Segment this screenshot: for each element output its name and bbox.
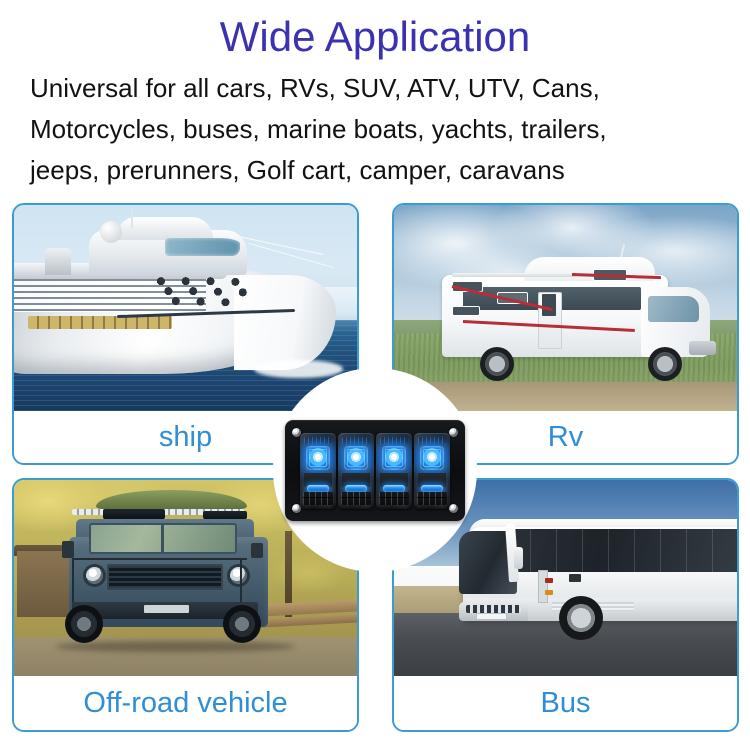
bus-license-plate (476, 613, 507, 620)
bull-bar-top (72, 558, 247, 560)
bus-amber-marker-light (545, 590, 553, 595)
subtitle-line-1: Universal for all cars, RVs, SUV, ATV, U… (30, 68, 720, 109)
rocker-switch-2[interactable] (338, 433, 374, 509)
blue-led-bar-4 (421, 485, 443, 492)
ship-scene (14, 205, 357, 411)
blue-led-bar-1 (307, 485, 329, 492)
roof-light-bar-right (203, 511, 248, 519)
bus-side-vent (569, 574, 581, 582)
roof-light-bar-left (103, 509, 165, 519)
card-caption-offroad: Off-road vehicle (14, 676, 357, 730)
rv-door-window (542, 294, 556, 317)
bus-red-marker-light (545, 578, 553, 583)
bus-service-door (538, 570, 548, 603)
headlight-left (83, 564, 106, 587)
blue-led-indicator-2 (344, 446, 368, 470)
rv-front-bumper (689, 341, 716, 355)
mounting-screw-bottom-right (449, 504, 458, 513)
bus-side-windows (504, 529, 737, 572)
blue-led-bar-2 (345, 485, 367, 492)
rv-rear-wheel (480, 347, 514, 381)
rocker-switch-1[interactable] (300, 433, 336, 509)
ship-cabin-windows (151, 275, 274, 306)
wide-application-infographic: Wide Application Universal for all cars,… (0, 0, 750, 750)
rocker-switch-3[interactable] (376, 433, 412, 509)
rocker-switch-4[interactable] (414, 433, 450, 509)
bus-side-mirror (514, 547, 523, 569)
rv-scene (394, 205, 737, 411)
blue-led-bar-3 (383, 485, 405, 492)
card-caption-bus: Bus (394, 676, 737, 730)
subtitle-text: Universal for all cars, RVs, SUV, ATV, U… (30, 68, 720, 191)
mounting-screw-top-right (449, 428, 458, 437)
ship-funnel (45, 248, 71, 275)
cruise-ship-photo (14, 205, 357, 411)
ship-lifeboats (28, 316, 172, 328)
headlight-right (227, 564, 250, 587)
rocker-bottom-ribs-2 (341, 492, 371, 505)
rocker-bottom-ribs-1 (303, 492, 333, 505)
blue-led-indicator-4 (420, 446, 444, 470)
bus-front-wheel (559, 596, 603, 640)
wooden-shed (17, 551, 75, 618)
motorhome-rv-photo (394, 205, 737, 411)
ship-mast (131, 209, 133, 228)
blue-led-indicator-1 (306, 446, 330, 470)
rv-awning (452, 273, 575, 277)
offroad-license-plate (144, 605, 189, 613)
rocker-top-ribs-3 (380, 437, 408, 444)
rv-window-2 (452, 306, 479, 316)
page-title: Wide Application (0, 13, 750, 61)
subtitle-line-3: jeeps, prerunners, Golf cart, camper, ca… (30, 150, 720, 191)
rocker-bottom-ribs-3 (379, 492, 409, 505)
windshield-divider (161, 523, 164, 554)
rocker-switch-panel[interactable] (285, 420, 465, 521)
offroad-mirror-right (251, 543, 263, 558)
header: Wide Application Universal for all cars,… (0, 0, 750, 200)
rocker-top-ribs-2 (342, 437, 370, 444)
rv-windshield (648, 296, 699, 323)
offroad-mirror-left (62, 541, 74, 558)
rocker-top-ribs-4 (418, 437, 446, 444)
offroad-grille (107, 564, 224, 589)
rv-front-wheel (648, 347, 682, 381)
blue-led-indicator-3 (382, 446, 406, 470)
rocker-bottom-ribs-4 (417, 492, 447, 505)
subtitle-line-2: Motorcycles, buses, marine boats, yachts… (30, 109, 720, 150)
rocker-top-ribs-1 (304, 437, 332, 444)
ship-bow-wake (254, 360, 343, 379)
bus-fog-lights (466, 605, 521, 613)
ship-glass-lounge (165, 238, 240, 257)
